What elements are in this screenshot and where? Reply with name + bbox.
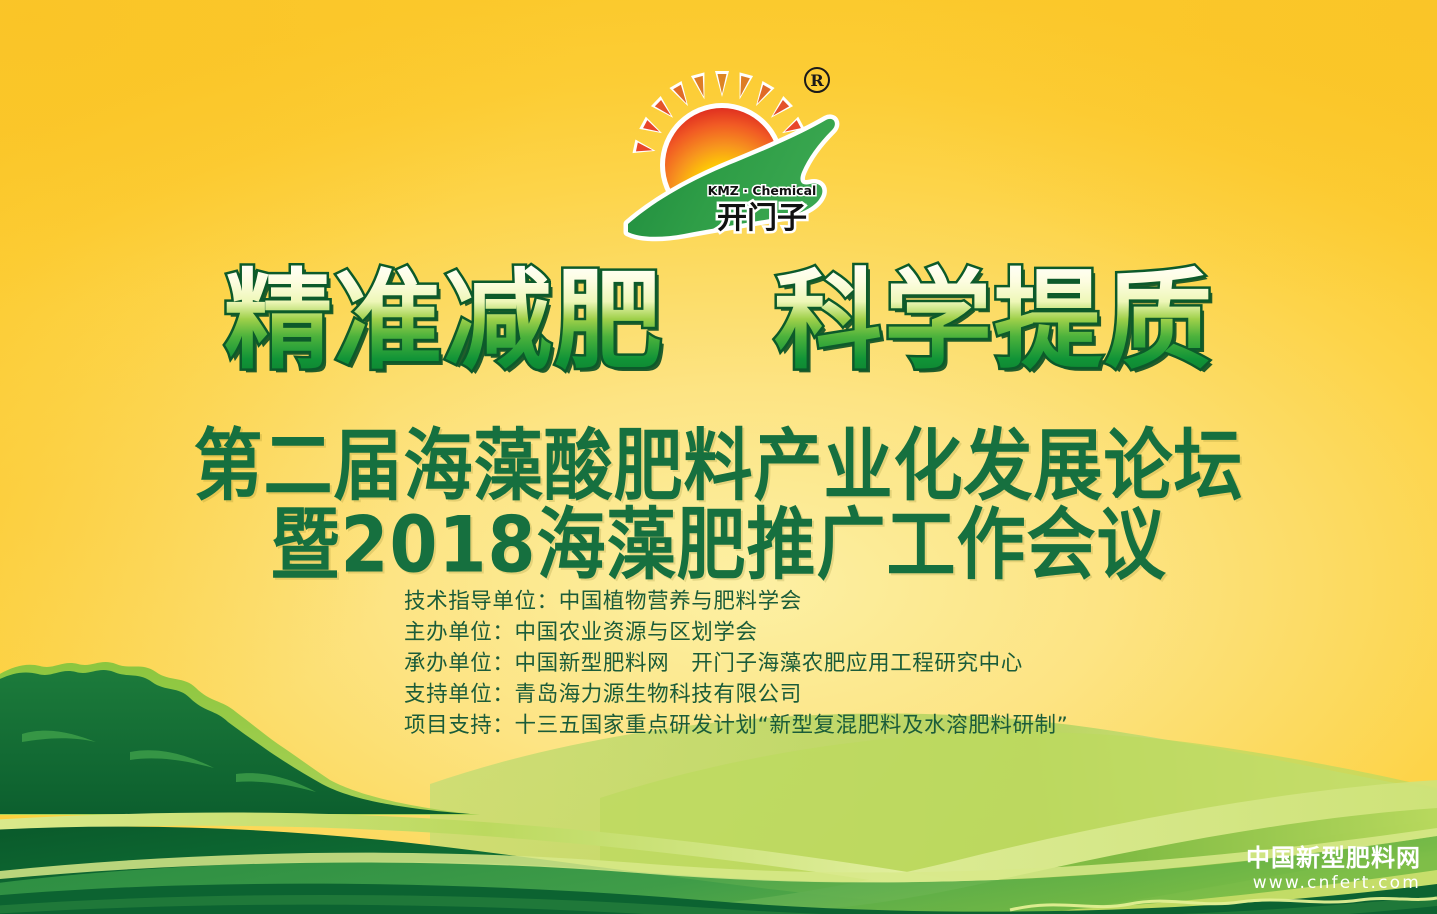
subtitle-line-2: 暨2018海藻肥推广工作会议 [0,481,1437,581]
watermark-url: www.cnfert.com [1246,874,1421,894]
info-line-host: 主办单位：中国农业资源与区划学会 [404,617,1164,648]
info-line-project-support: 项目支持：十三五国家重点研发计划“新型复混肥料及水溶肥料研制” [404,710,1164,741]
logo-brand-en: KMZ · Chemical [708,183,817,198]
info-line-technical-guidance: 技术指导单位：中国植物营养与肥料学会 [404,586,1164,617]
watermark-site-name: 中国新型肥料网 [1246,845,1421,873]
info-line-organizer: 承办单位：中国新型肥料网 开门子海藻农肥应用工程研究中心 [404,648,1164,679]
svg-text:R: R [810,71,824,90]
organizer-info-block: 技术指导单位：中国植物营养与肥料学会 主办单位：中国农业资源与区划学会 承办单位… [404,586,1164,741]
info-line-supporter: 支持单位：青岛海力源生物科技有限公司 [404,679,1164,710]
logo-brand-cn: 开门子 [717,201,807,236]
site-watermark: 中国新型肥料网 www.cnfert.com [1246,845,1421,894]
conference-banner: R KMZ · Chemical 开门子 精准减肥 科学提质 [0,0,1437,914]
headline-svg: 精准减肥 科学提质 精准减肥 科学提质 [189,262,1249,387]
company-logo: R KMZ · Chemical 开门子 [612,62,852,247]
headline-text: 精准减肥 科学提质 [223,259,1213,384]
headline: 精准减肥 科学提质 精准减肥 科学提质 [0,262,1437,387]
registered-trademark-icon: R [805,68,829,92]
logo-svg: R KMZ · Chemical 开门子 [612,62,852,247]
subtitle-line-2-text: 暨2018海藻肥推广工作会议 [270,481,1166,594]
